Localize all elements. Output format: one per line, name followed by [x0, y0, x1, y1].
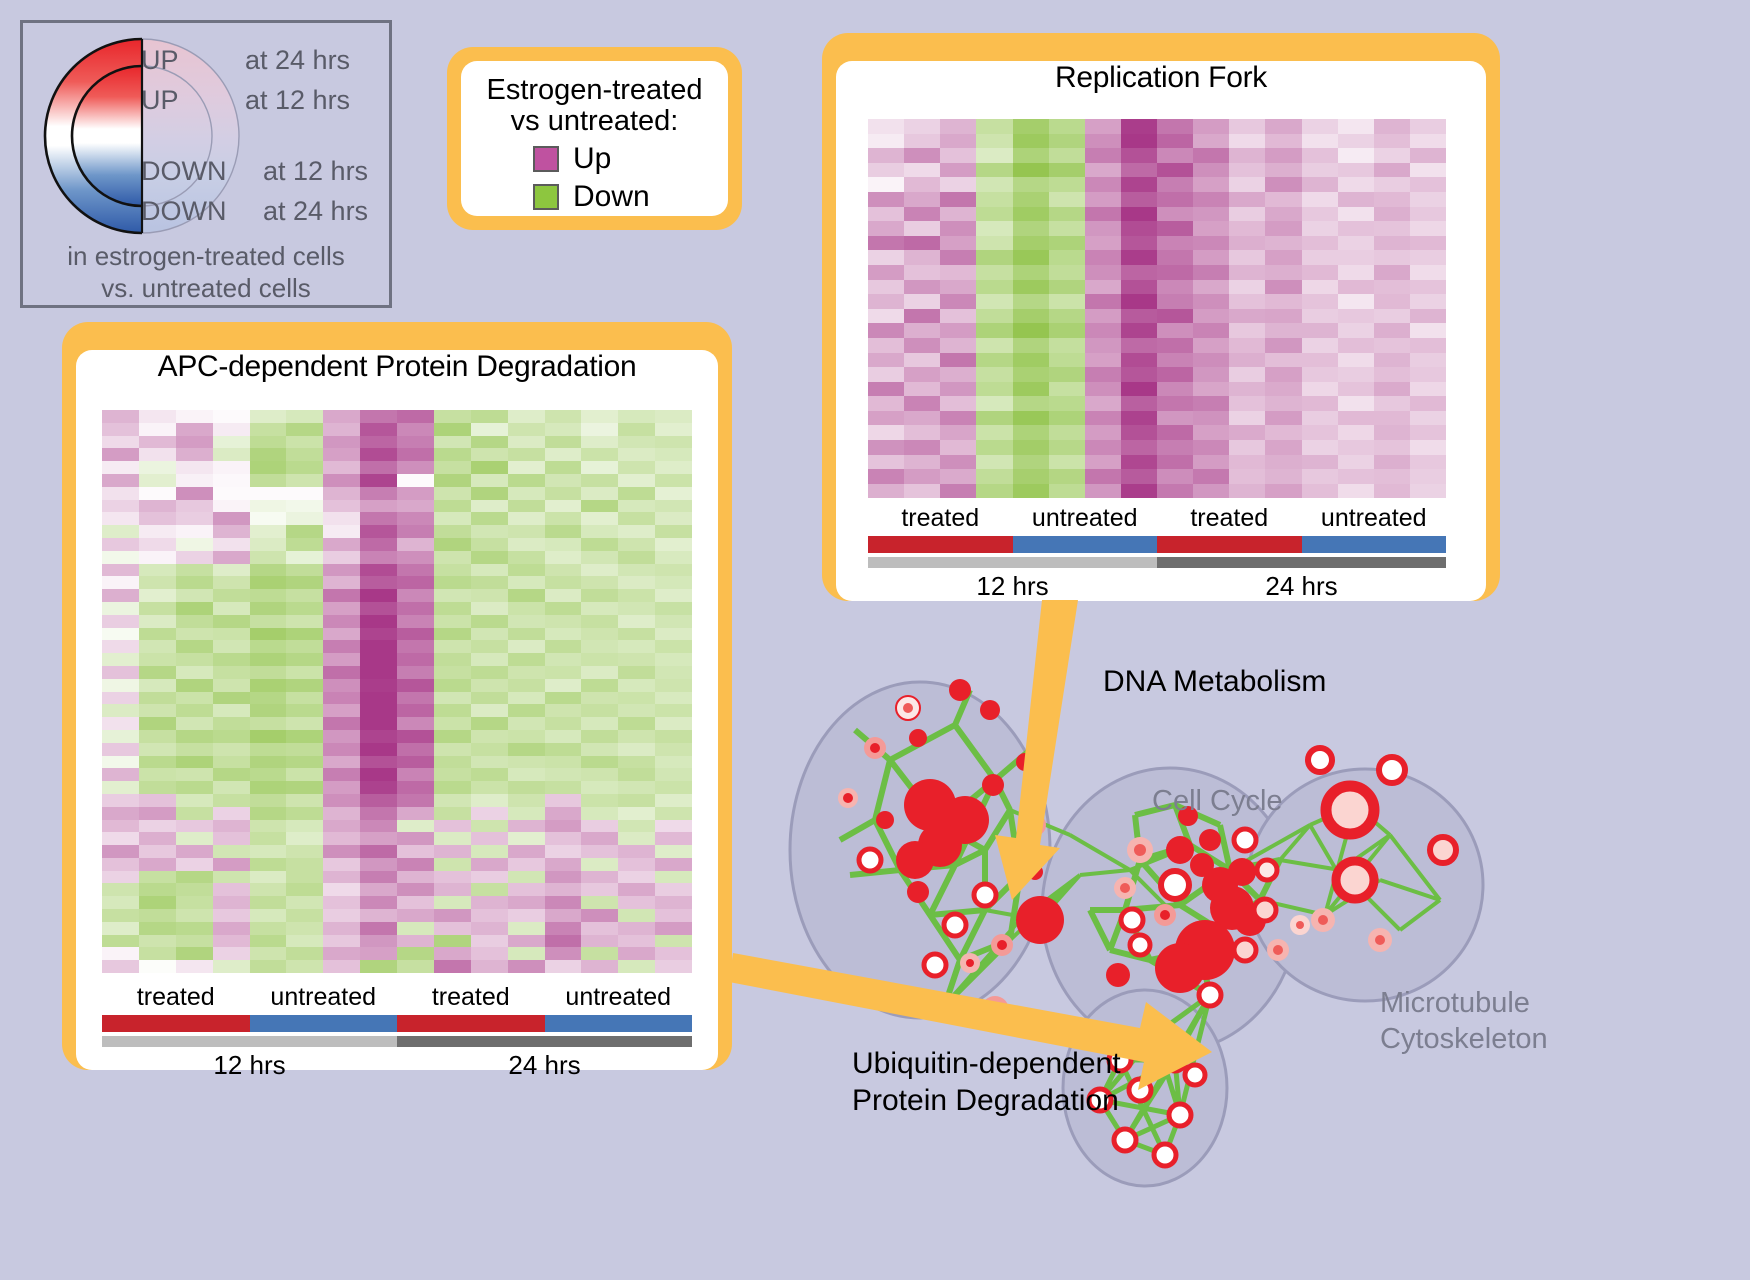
heatmap-cell: [868, 134, 904, 149]
heatmap-cell: [1157, 177, 1193, 192]
heatmap-cell: [1265, 309, 1301, 324]
heatmap-cell: [1265, 440, 1301, 455]
heatmap-cell: [360, 960, 397, 973]
heatmap-cell: [1410, 221, 1446, 236]
heatmap-cell: [545, 730, 582, 743]
network-node: [1130, 935, 1150, 955]
replication-fork-group-labels: treated untreated treated untreated: [868, 504, 1446, 533]
heatmap-cell: [360, 628, 397, 641]
heatmap-cell: [1049, 294, 1085, 309]
heatmap-cell: [1193, 294, 1229, 309]
heatmap-cell: [250, 628, 287, 641]
heatmap-cell: [1229, 163, 1265, 178]
heatmap-cell: [397, 871, 434, 884]
heatmap-cell: [176, 525, 213, 538]
network-node: [1114, 1129, 1136, 1151]
heatmap-cell: [323, 576, 360, 589]
heatmap-cell: [176, 858, 213, 871]
heatmap-cell: [250, 756, 287, 769]
heatmap-cell: [581, 845, 618, 858]
heatmap-cell: [868, 177, 904, 192]
apc-time-label-12hrs: 12 hrs: [102, 1050, 397, 1081]
heatmap-cell: [976, 265, 1012, 280]
heatmap-cell: [176, 436, 213, 449]
heatmap-cell: [434, 807, 471, 820]
heatmap-cell: [176, 564, 213, 577]
heatmap-cell: [250, 768, 287, 781]
heatmap-cell: [545, 871, 582, 884]
heatmap-cell: [545, 500, 582, 513]
heatmap-cell: [545, 628, 582, 641]
heatmap-cell: [250, 448, 287, 461]
heatmap-cell: [250, 858, 287, 871]
apc-time-bar: [102, 1036, 692, 1047]
heatmap-cell: [655, 922, 692, 935]
heatmap-cell: [1302, 207, 1338, 222]
heatmap-cell: [545, 436, 582, 449]
heatmap-cell: [176, 461, 213, 474]
heatmap-cell: [904, 353, 940, 368]
heatmap-cell: [1085, 338, 1121, 353]
heatmap-cell: [1302, 280, 1338, 295]
heatmap-cell: [1410, 148, 1446, 163]
heatmap-cell: [250, 896, 287, 909]
heatmap-cell: [139, 704, 176, 717]
heatmap-cell: [508, 768, 545, 781]
heatmap-cell: [250, 653, 287, 666]
bar-untreated-24: [1302, 536, 1447, 553]
heatmap-cell: [286, 525, 323, 538]
heatmap-cell: [323, 602, 360, 615]
heatmap-cell: [976, 353, 1012, 368]
heatmap-cell: [1193, 207, 1229, 222]
heatmap-cell: [1049, 382, 1085, 397]
heatmap-cell: [471, 602, 508, 615]
heatmap-cell: [323, 704, 360, 717]
heatmap-cell: [286, 679, 323, 692]
heatmap-cell: [1193, 323, 1229, 338]
heatmap-cell: [471, 589, 508, 602]
heatmap-cell: [250, 461, 287, 474]
heatmap-cell: [213, 436, 250, 449]
heatmap-cell: [581, 589, 618, 602]
heatmap-cell: [250, 960, 287, 973]
heatmap-cell: [397, 756, 434, 769]
heatmap-cell: [581, 820, 618, 833]
heatmap-cell: [868, 221, 904, 236]
apc-bar-treated-24: [397, 1015, 545, 1032]
heatmap-cell: [213, 794, 250, 807]
heatmap-cell: [1193, 280, 1229, 295]
heatmap-cell: [1157, 163, 1193, 178]
heatmap-cell: [1338, 425, 1374, 440]
heatmap-cell: [1229, 134, 1265, 149]
network-node-core: [1160, 910, 1170, 920]
heatmap-cell: [508, 653, 545, 666]
heatmap-cell: [1265, 294, 1301, 309]
network-node: [982, 774, 1004, 796]
heatmap-cell: [581, 653, 618, 666]
heatmap-cell: [360, 538, 397, 551]
heatmap-cell: [102, 512, 139, 525]
heatmap-cell: [1157, 469, 1193, 484]
heatmap-cell: [976, 192, 1012, 207]
heatmap-cell: [1121, 134, 1157, 149]
heatmap-cell: [1013, 484, 1049, 499]
group-label-treated-24: treated: [1157, 504, 1302, 533]
heatmap-cell: [102, 947, 139, 960]
heatmap-cell: [434, 410, 471, 423]
heatmap-cell: [360, 730, 397, 743]
heatmap-cell: [397, 653, 434, 666]
heatmap-cell: [139, 756, 176, 769]
heatmap-cell: [323, 666, 360, 679]
heatmap-cell: [213, 832, 250, 845]
heatmap-cell: [904, 265, 940, 280]
heatmap-cell: [655, 410, 692, 423]
heatmap-cell: [581, 832, 618, 845]
heatmap-cell: [976, 221, 1012, 236]
replication-fork-panel: Replication Fork treated untreated treat…: [822, 33, 1500, 601]
heatmap-cell: [940, 250, 976, 265]
heatmap-cell: [139, 615, 176, 628]
heatmap-cell: [618, 487, 655, 500]
heatmap-cell: [434, 500, 471, 513]
heatmap-cell: [286, 858, 323, 871]
heatmap-cell: [1410, 396, 1446, 411]
heatmap-cell: [397, 423, 434, 436]
heatmap-cell: [868, 425, 904, 440]
heatmap-cell: [508, 692, 545, 705]
heatmap-cell: [1265, 484, 1301, 499]
heatmap-cell: [323, 730, 360, 743]
heatmap-cell: [176, 845, 213, 858]
heatmap-cell: [1049, 148, 1085, 163]
heatmap-cell: [102, 883, 139, 896]
heatmap-cell: [213, 512, 250, 525]
heatmap-cell: [1410, 280, 1446, 295]
heatmap-cell: [471, 512, 508, 525]
heatmap-cell: [1374, 338, 1410, 353]
apc-bar-12hrs: [102, 1036, 397, 1047]
heatmap-cell: [581, 896, 618, 909]
heatmap-cell: [360, 576, 397, 589]
heatmap-cell: [581, 947, 618, 960]
heatmap-cell: [1374, 411, 1410, 426]
heatmap-cell: [102, 436, 139, 449]
heatmap-cell: [1085, 396, 1121, 411]
heatmap-cell: [434, 717, 471, 730]
heatmap-cell: [471, 487, 508, 500]
heatmap-cell: [360, 781, 397, 794]
heatmap-cell: [1049, 207, 1085, 222]
heatmap-cell: [250, 871, 287, 884]
heatmap-cell: [508, 487, 545, 500]
heatmap-cell: [286, 628, 323, 641]
heatmap-cell: [434, 487, 471, 500]
heatmap-cell: [655, 448, 692, 461]
heatmap-cell: [618, 679, 655, 692]
heatmap-cell: [976, 177, 1012, 192]
heatmap-cell: [1085, 411, 1121, 426]
heatmap-cell: [102, 935, 139, 948]
network-node-core: [1273, 945, 1283, 955]
heatmap-cell: [545, 794, 582, 807]
heatmap-cell: [434, 820, 471, 833]
heatmap-cell: [508, 960, 545, 973]
heatmap-cell: [976, 134, 1012, 149]
heatmap-cell: [250, 807, 287, 820]
heatmap-cell: [1229, 323, 1265, 338]
heatmap-cell: [904, 440, 940, 455]
heatmap-cell: [508, 896, 545, 909]
heatmap-cell: [1265, 177, 1301, 192]
heatmap-cell: [508, 858, 545, 871]
heatmap-cell: [250, 832, 287, 845]
heatmap-cell: [545, 461, 582, 474]
network-node: [1016, 753, 1034, 771]
heatmap-cell: [250, 883, 287, 896]
heatmap-cell: [139, 947, 176, 960]
heatmap-cell: [213, 525, 250, 538]
heatmap-cell: [250, 730, 287, 743]
heatmap-cell: [508, 461, 545, 474]
heatmap-cell: [1374, 294, 1410, 309]
heatmap-cell: [213, 500, 250, 513]
heatmap-cell: [868, 469, 904, 484]
replication-fork-treatment-bar: [868, 536, 1446, 553]
heatmap-cell: [1121, 396, 1157, 411]
network-node: [1379, 757, 1405, 783]
heatmap-cell: [940, 134, 976, 149]
heatmap-cell: [1302, 163, 1338, 178]
heatmap-cell: [1410, 484, 1446, 499]
heatmap-cell: [213, 589, 250, 602]
heatmap-cell: [1229, 309, 1265, 324]
heatmap-cell: [176, 935, 213, 948]
heatmap-cell: [868, 280, 904, 295]
heatmap-cell: [323, 960, 360, 973]
heatmap-cell: [1265, 265, 1301, 280]
heatmap-cell: [940, 236, 976, 251]
heatmap-cell: [471, 820, 508, 833]
heatmap-cell: [618, 448, 655, 461]
heatmap-cell: [1157, 396, 1193, 411]
cluster-label-ubiquitin-line1: Ubiquitin-dependent: [852, 1046, 1121, 1083]
heatmap-cell: [323, 832, 360, 845]
heatmap-cell: [1121, 221, 1157, 236]
legend-heading: Estrogen-treated vs untreated:: [471, 75, 718, 138]
heatmap-cell: [102, 820, 139, 833]
heatmap-cell: [868, 119, 904, 134]
heatmap-cell: [618, 551, 655, 564]
heatmap-cell: [655, 743, 692, 756]
heatmap-cell: [1229, 265, 1265, 280]
heatmap-cell: [508, 871, 545, 884]
heatmap-cell: [213, 704, 250, 717]
heatmap-cell: [1121, 119, 1157, 134]
heatmap-cell: [139, 538, 176, 551]
heatmap-cell: [1265, 280, 1301, 295]
heatmap-cell: [1374, 367, 1410, 382]
heatmap-cell: [618, 858, 655, 871]
cluster-label-microtubule-line2: Cytoskeleton: [1380, 1021, 1548, 1057]
network-node: [1129, 1079, 1151, 1101]
heatmap-cell: [434, 768, 471, 781]
network-node: [1154, 1144, 1176, 1166]
heatmap-cell: [397, 935, 434, 948]
heatmap-cell: [139, 653, 176, 666]
apc-group-label-untreated-12: untreated: [250, 983, 398, 1012]
heatmap-cell: [904, 484, 940, 499]
heatmap-cell: [323, 896, 360, 909]
heatmap-cell: [139, 896, 176, 909]
heatmap-cell: [1338, 411, 1374, 426]
apc-degradation-heatmap: [102, 410, 692, 973]
heatmap-cell: [286, 551, 323, 564]
heatmap-cell: [868, 484, 904, 499]
cluster-label-microtubule-cytoskeleton: Microtubule Cytoskeleton: [1380, 985, 1548, 1058]
heatmap-cell: [323, 525, 360, 538]
heatmap-cell: [1193, 396, 1229, 411]
heatmap-cell: [1121, 192, 1157, 207]
heatmap-cell: [581, 858, 618, 871]
heatmap-cell: [213, 640, 250, 653]
heatmap-cell: [976, 484, 1012, 499]
heatmap-cell: [655, 960, 692, 973]
heatmap-cell: [1193, 425, 1229, 440]
heatmap-cell: [940, 396, 976, 411]
heatmap-cell: [1157, 148, 1193, 163]
heatmap-cell: [1302, 396, 1338, 411]
heatmap-cell: [176, 756, 213, 769]
heatmap-cell: [1157, 440, 1193, 455]
heatmap-cell: [904, 455, 940, 470]
heatmap-cell: [508, 628, 545, 641]
heatmap-cell: [102, 730, 139, 743]
heatmap-cell: [1410, 265, 1446, 280]
heatmap-cell: [1374, 440, 1410, 455]
heatmap-cell: [360, 551, 397, 564]
heatmap-cell: [1193, 163, 1229, 178]
heatmap-cell: [471, 640, 508, 653]
heatmap-cell: [102, 410, 139, 423]
heatmap-cell: [655, 615, 692, 628]
heatmap-cell: [1410, 236, 1446, 251]
apc-degradation-panel: APC-dependent Protein Degradation treate…: [62, 322, 732, 1070]
heatmap-cell: [976, 163, 1012, 178]
heatmap-cell: [397, 909, 434, 922]
heatmap-cell: [1121, 382, 1157, 397]
heatmap-cell: [1013, 192, 1049, 207]
heatmap-cell: [250, 666, 287, 679]
heatmap-cell: [471, 947, 508, 960]
heatmap-cell: [397, 717, 434, 730]
heatmap-cell: [1049, 440, 1085, 455]
heatmap-cell: [176, 500, 213, 513]
heatmap-cell: [360, 640, 397, 653]
network-node: [909, 729, 927, 747]
heatmap-cell: [213, 551, 250, 564]
heatmap-cell: [655, 883, 692, 896]
heatmap-cell: [581, 768, 618, 781]
network-node: [1430, 837, 1456, 863]
heatmap-cell: [1229, 280, 1265, 295]
heatmap-cell: [1157, 294, 1193, 309]
heatmap-cell: [286, 461, 323, 474]
heatmap-cell: [1013, 425, 1049, 440]
heatmap-cell: [471, 909, 508, 922]
heatmap-cell: [397, 410, 434, 423]
heatmap-cell: [1157, 250, 1193, 265]
heatmap-cell: [102, 551, 139, 564]
heatmap-cell: [1410, 192, 1446, 207]
heatmap-cell: [508, 743, 545, 756]
heatmap-cell: [1374, 265, 1410, 280]
heatmap-cell: [1374, 382, 1410, 397]
heatmap-cell: [618, 628, 655, 641]
heatmap-cell: [250, 794, 287, 807]
heatmap-cell: [471, 858, 508, 871]
heatmap-cell: [1338, 163, 1374, 178]
heatmap-cell: [1049, 484, 1085, 499]
heatmap-cell: [213, 730, 250, 743]
heatmap-cell: [102, 922, 139, 935]
heatmap-cell: [360, 947, 397, 960]
heatmap-cell: [434, 756, 471, 769]
heatmap-cell: [868, 440, 904, 455]
heatmap-cell: [250, 615, 287, 628]
heatmap-cell: [1229, 148, 1265, 163]
heatmap-cell: [1013, 119, 1049, 134]
heatmap-cell: [102, 704, 139, 717]
heatmap-cell: [213, 807, 250, 820]
network-node: [859, 849, 881, 871]
heatmap-cell: [434, 423, 471, 436]
heatmap-cell: [360, 436, 397, 449]
heatmap-cell: [976, 425, 1012, 440]
heatmap-cell: [323, 883, 360, 896]
heatmap-cell: [323, 474, 360, 487]
apc-degradation-inner: APC-dependent Protein Degradation treate…: [76, 350, 718, 1070]
heatmap-cell: [176, 628, 213, 641]
heatmap-cell: [868, 396, 904, 411]
heatmap-cell: [102, 768, 139, 781]
heatmap-cell: [1229, 396, 1265, 411]
heatmap-cell: [655, 589, 692, 602]
heatmap-cell: [1049, 163, 1085, 178]
heatmap-cell: [1121, 440, 1157, 455]
heatmap-cell: [250, 551, 287, 564]
heatmap-cell: [471, 423, 508, 436]
heatmap-cell: [139, 883, 176, 896]
heatmap-cell: [1229, 455, 1265, 470]
heatmap-cell: [1085, 119, 1121, 134]
heatmap-cell: [1157, 309, 1193, 324]
heatmap-cell: [434, 794, 471, 807]
heatmap-cell: [102, 640, 139, 653]
heatmap-cell: [655, 935, 692, 948]
heatmap-cell: [868, 353, 904, 368]
heatmap-cell: [286, 692, 323, 705]
heatmap-cell: [1049, 265, 1085, 280]
heatmap-cell: [1374, 309, 1410, 324]
legend-panel-inner: Estrogen-treated vs untreated: Up Down: [461, 61, 728, 216]
heatmap-cell: [471, 436, 508, 449]
replication-fork-heatmap: [868, 119, 1446, 498]
heatmap-cell: [1410, 119, 1446, 134]
heatmap-cell: [868, 192, 904, 207]
